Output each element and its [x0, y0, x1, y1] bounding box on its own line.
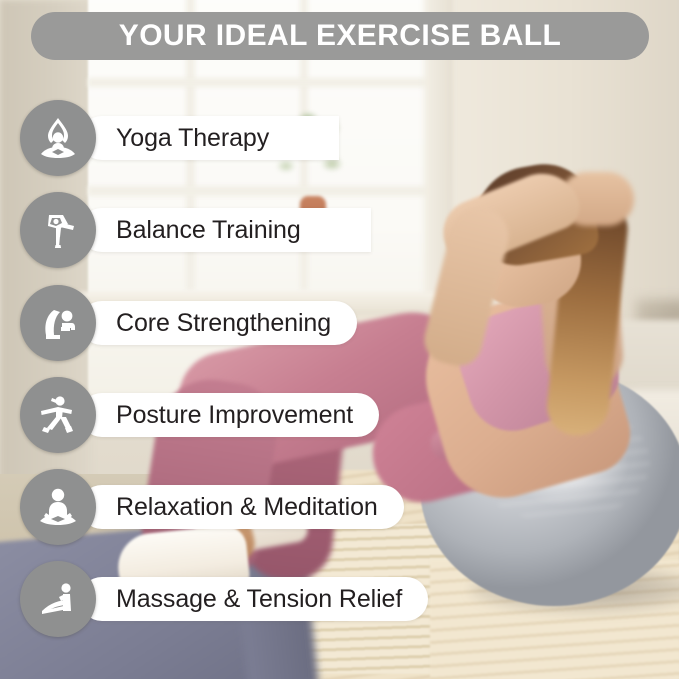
- product-feature-graphic: YOUR IDEAL EXERCISE BALL Yoga Therapy: [0, 0, 679, 679]
- meditation-seated-icon: [20, 469, 96, 545]
- feature-row[interactable]: Massage & Tension Relief: [20, 561, 428, 637]
- feature-label-pill: Relaxation & Meditation: [80, 485, 404, 529]
- feature-label: Posture Improvement: [116, 401, 353, 430]
- feature-label-pill: Posture Improvement: [80, 393, 379, 437]
- feature-row[interactable]: Balance Training: [20, 192, 371, 268]
- warrior-pose-icon: [20, 377, 96, 453]
- feature-label: Massage & Tension Relief: [116, 585, 402, 614]
- feature-label: Core Strengthening: [116, 309, 331, 338]
- feature-label-pill: Massage & Tension Relief: [80, 577, 428, 621]
- header-banner: YOUR IDEAL EXERCISE BALL: [31, 12, 649, 60]
- feature-row[interactable]: Core Strengthening: [20, 285, 357, 361]
- feature-row[interactable]: Posture Improvement: [20, 377, 379, 453]
- balance-pose-icon: [20, 192, 96, 268]
- feature-row[interactable]: Yoga Therapy: [20, 100, 339, 176]
- yoga-lotus-icon: [20, 100, 96, 176]
- feature-label: Relaxation & Meditation: [116, 493, 378, 522]
- page-title: YOUR IDEAL EXERCISE BALL: [119, 19, 561, 53]
- massage-therapy-icon: [20, 561, 96, 637]
- feature-row[interactable]: Relaxation & Meditation: [20, 469, 404, 545]
- feature-label: Balance Training: [116, 216, 301, 245]
- feature-label-pill: Balance Training: [80, 208, 371, 252]
- feature-label-pill: Yoga Therapy: [80, 116, 339, 160]
- window-mullion-horizontal: [88, 78, 440, 87]
- feature-label: Yoga Therapy: [116, 124, 269, 153]
- feature-label-pill: Core Strengthening: [80, 301, 357, 345]
- situp-crunch-icon: [20, 285, 96, 361]
